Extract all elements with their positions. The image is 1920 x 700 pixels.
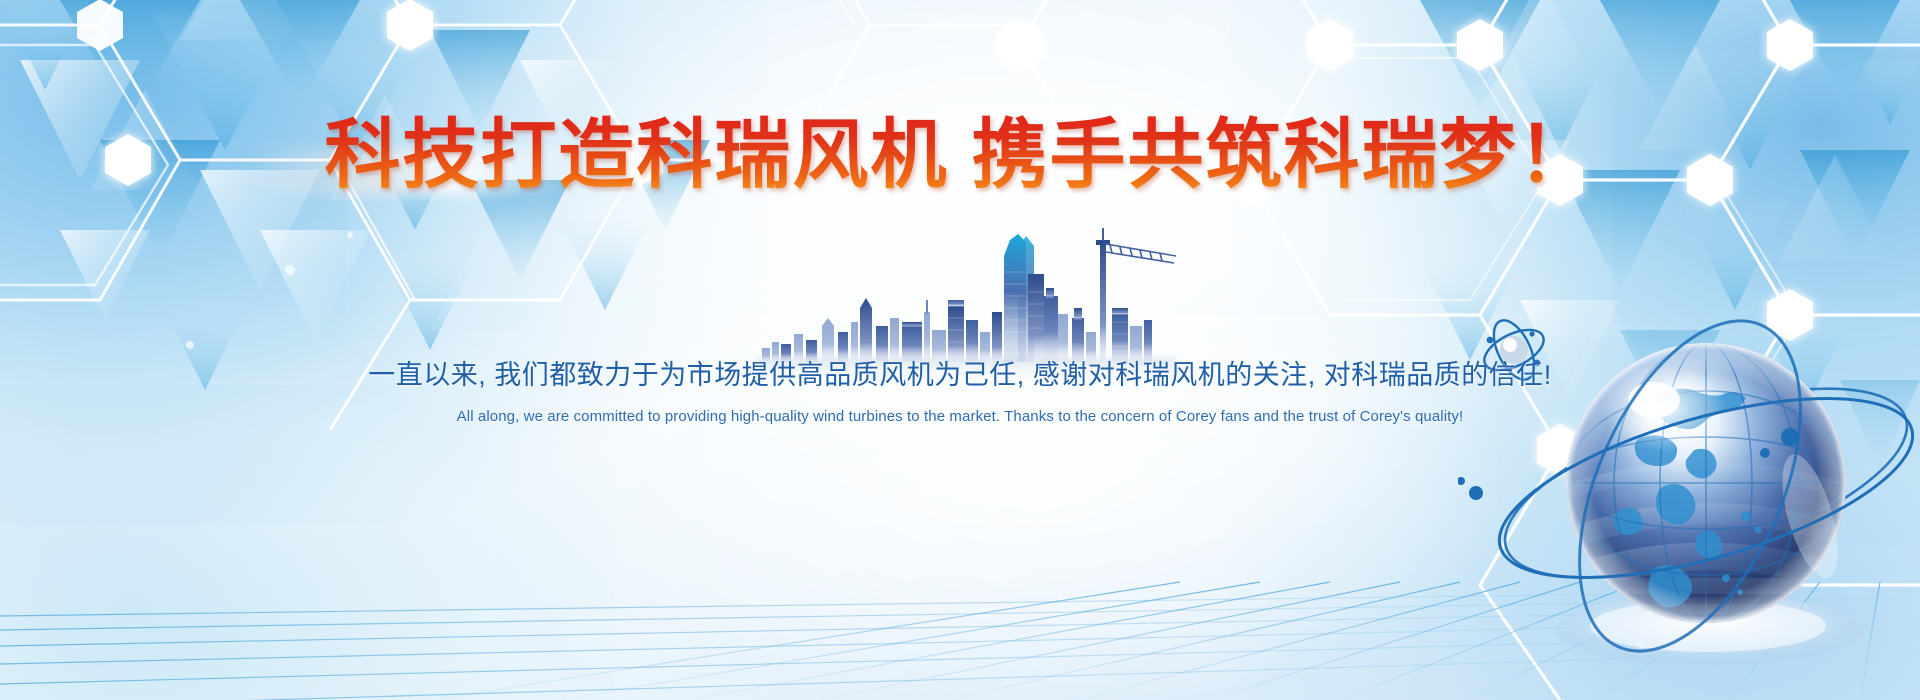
promo-banner: 科技打造科瑞风机 携手共筑科瑞梦！ 一直以来, 我们都致力于为市场提供高品质风机…	[0, 0, 1920, 700]
banner-headline: 科技打造科瑞风机 携手共筑科瑞梦！	[0, 0, 1920, 194]
banner-text-content: 科技打造科瑞风机 携手共筑科瑞梦！ 一直以来, 我们都致力于为市场提供高品质风机…	[0, 0, 1920, 425]
banner-subtitle-chinese: 一直以来, 我们都致力于为市场提供高品质风机为己任, 感谢对科瑞风机的关注, 对…	[0, 194, 1920, 392]
banner-subtitle-english: All along, we are committed to providing…	[0, 392, 1920, 425]
